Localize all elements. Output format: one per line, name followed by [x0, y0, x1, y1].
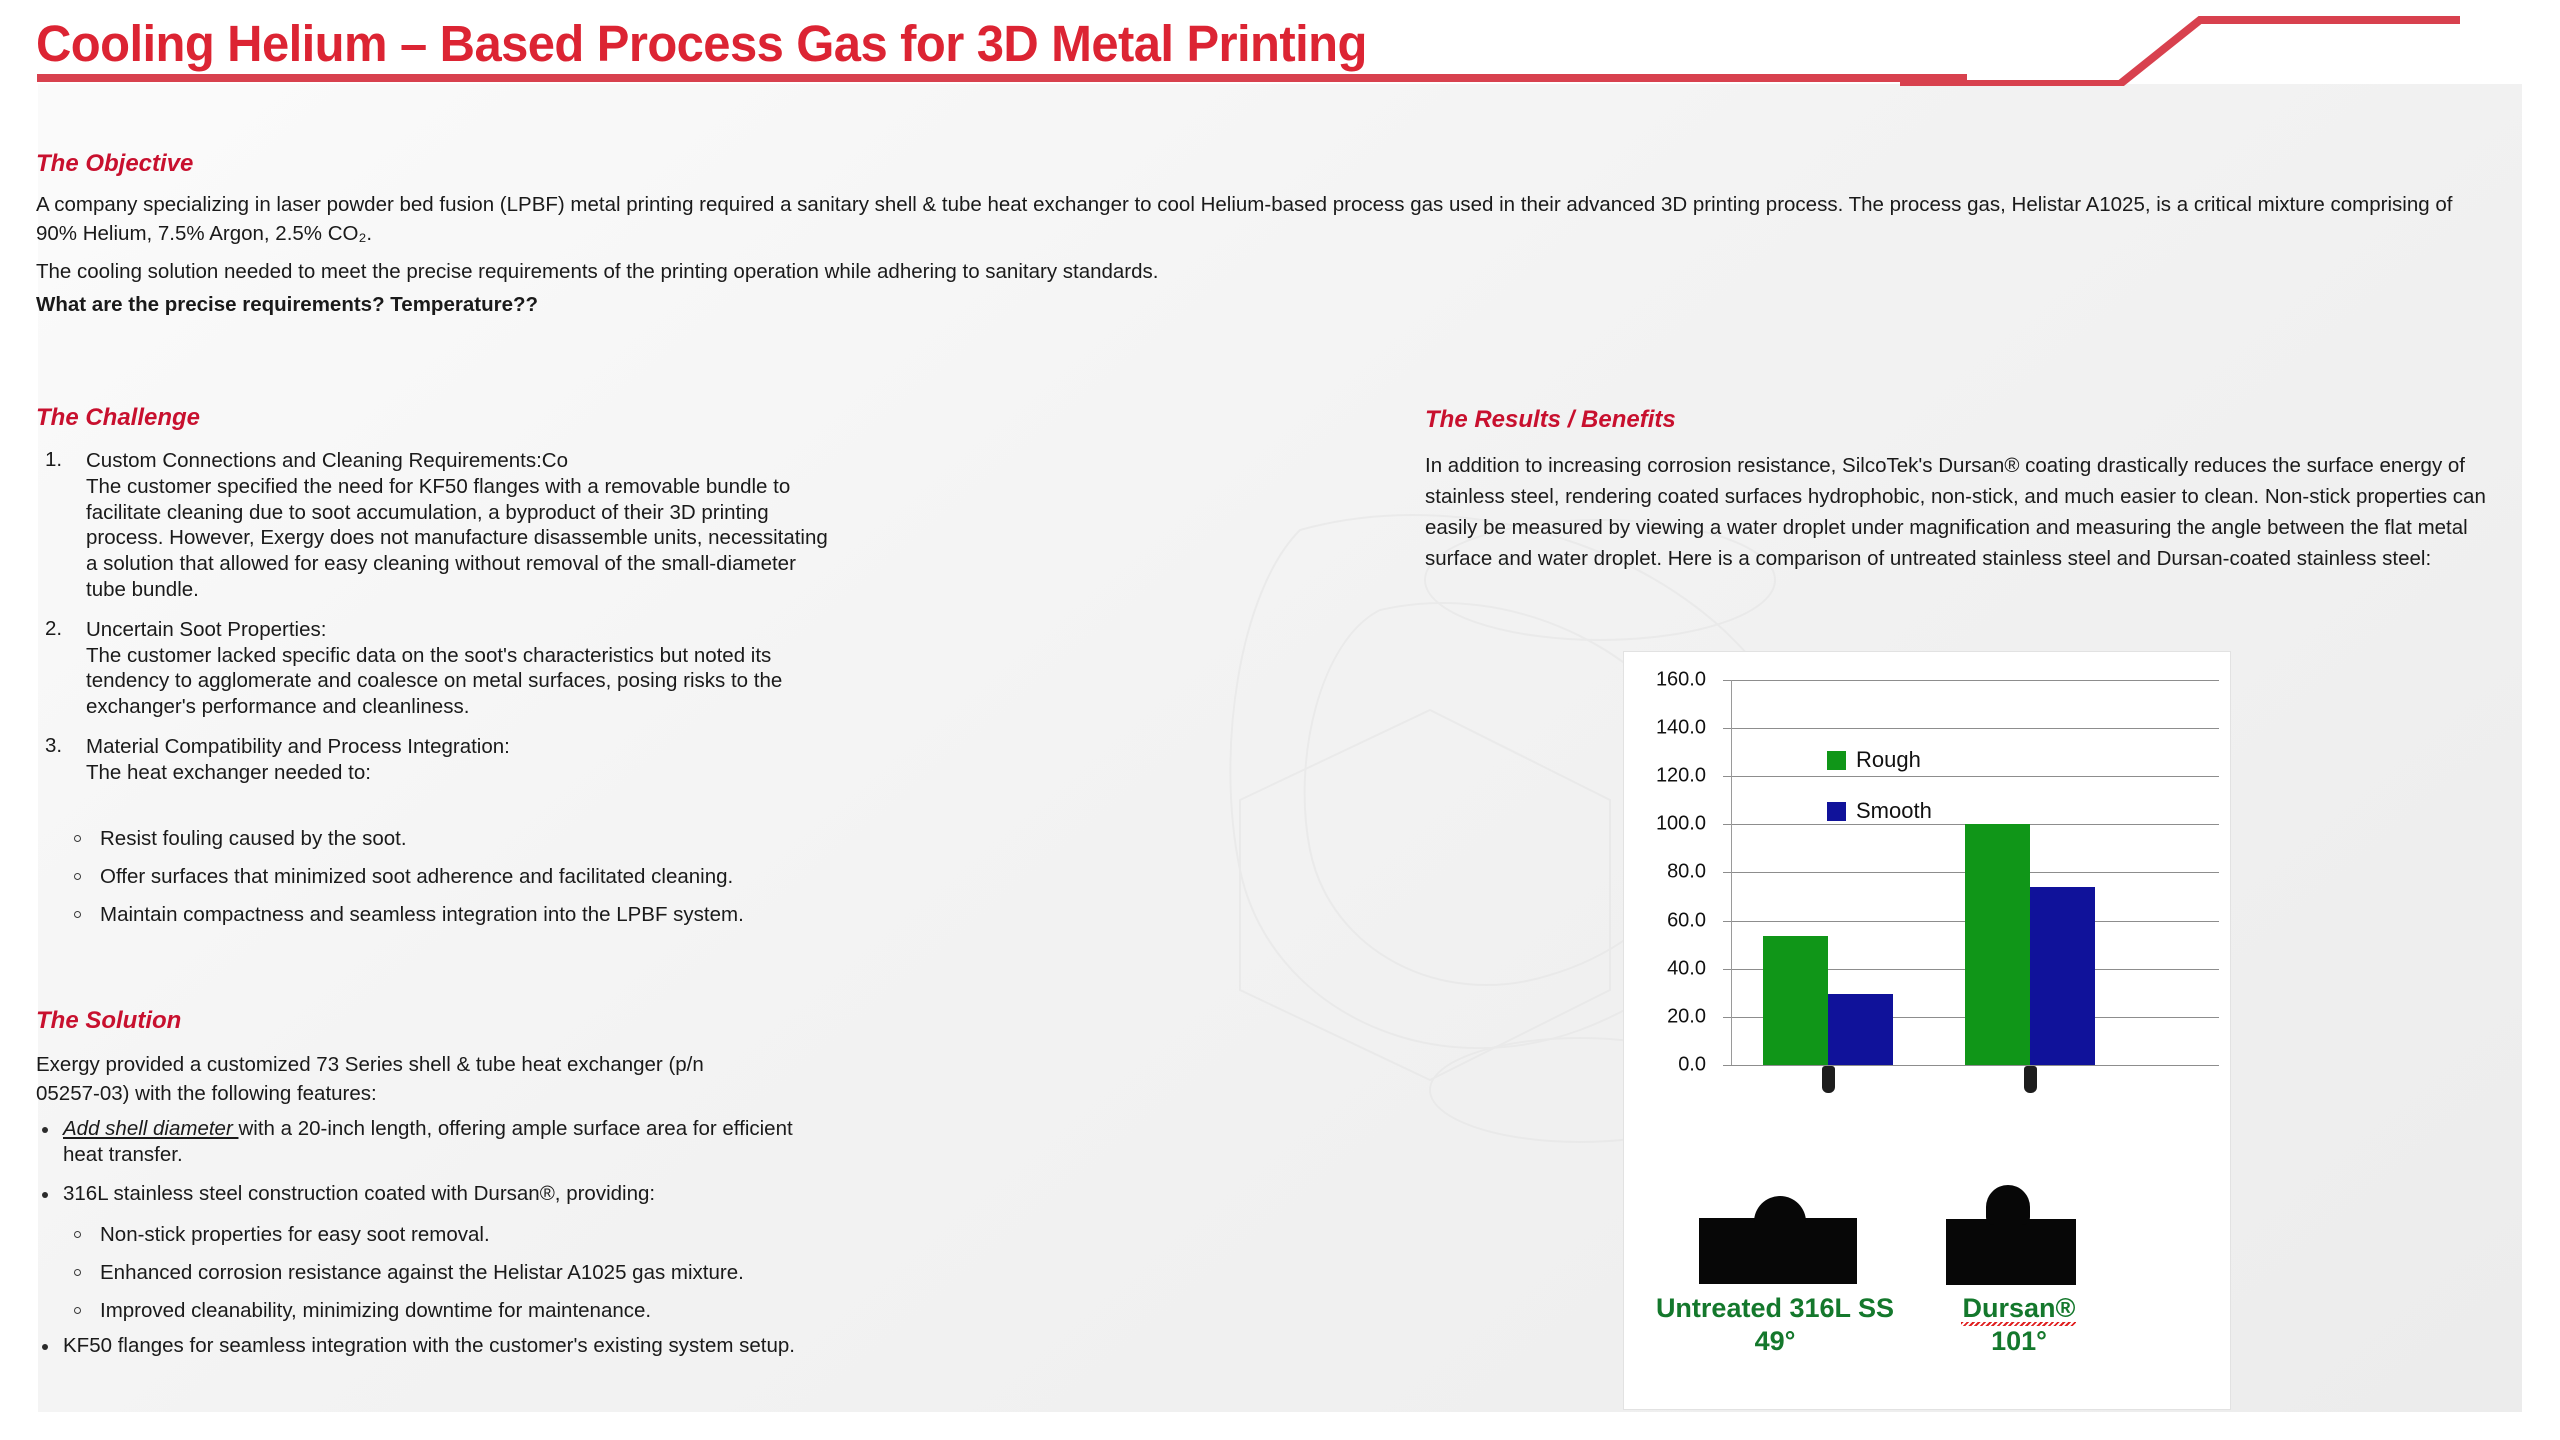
challenge-item-2-title: Uncertain Soot Properties:: [86, 617, 832, 643]
slide-root: Cooling Helium – Based Process Gas for 3…: [0, 0, 2560, 1440]
x-axis-knob-dursan: [2024, 1066, 2037, 1093]
challenge-item-3-title: Material Compatibility and Process Integ…: [86, 734, 832, 760]
challenge-sub-item-2: Offer surfaces that minimized soot adher…: [68, 864, 858, 890]
caption-dursan-angle: 101°: [1914, 1325, 2124, 1358]
solution-sub-item-2-label: Enhanced corrosion resistance against th…: [100, 1261, 744, 1284]
y-axis-label-160: 160.0: [1634, 669, 1706, 692]
solution-bullet-2: 316L stainless steel construction coated…: [36, 1181, 826, 1207]
bar-smooth-untreated: [1828, 994, 1893, 1065]
tick-20: [1723, 1017, 1731, 1018]
dursan-water-droplet: [1986, 1185, 2030, 1225]
caption-dursan: Dursan® 101°: [1914, 1292, 2124, 1358]
challenge-sub-item-2-label: Offer surfaces that minimized soot adher…: [100, 865, 733, 888]
legend-item-smooth: Smooth: [1827, 798, 1932, 824]
objective-paragraph-3: What are the precise requirements? Tempe…: [36, 290, 1936, 319]
legend-swatch-smooth-icon: [1827, 802, 1846, 821]
y-axis-label-60: 60.0: [1634, 910, 1706, 933]
challenge-sub-item-1: Resist fouling caused by the soot.: [68, 826, 858, 852]
legend-label-smooth: Smooth: [1856, 798, 1932, 824]
solution-intro: Exergy provided a customized 73 Series s…: [36, 1050, 756, 1108]
results-heading: The Results / Benefits: [1425, 406, 1676, 434]
circle-bullet-icon: [74, 1269, 81, 1276]
challenge-item-1-title: Custom Connections and Cleaning Requirem…: [86, 448, 832, 474]
challenge-item-3-body: The heat exchanger needed to:: [86, 760, 832, 786]
caption-untreated-angle: 49°: [1623, 1325, 1930, 1358]
droplet-image-dursan: [1946, 1189, 2076, 1285]
untreated-substrate: [1699, 1218, 1857, 1284]
circle-bullet-icon: [74, 1307, 81, 1314]
solution-bullet-2-label: 316L stainless steel construction coated…: [63, 1182, 655, 1205]
dot-bullet-icon: [42, 1127, 48, 1133]
y-axis-label-100: 100.0: [1634, 813, 1706, 836]
y-axis-label-20: 20.0: [1634, 1006, 1706, 1029]
solution-sub-item-3: Improved cleanability, minimizing downti…: [68, 1298, 858, 1324]
challenge-list: 1. Custom Connections and Cleaning Requi…: [42, 448, 832, 800]
caption-untreated: Untreated 316L SS 49°: [1623, 1292, 1930, 1358]
bar-rough-dursan: [1965, 824, 2030, 1065]
circle-bullet-icon: [74, 873, 81, 880]
challenge-sub-item-3-label: Maintain compactness and seamless integr…: [100, 903, 744, 926]
tick-80: [1723, 872, 1731, 873]
tick-40: [1723, 969, 1731, 970]
objective-paragraph-1: A company specializing in laser powder b…: [36, 190, 2496, 248]
solution-sub-list: Non-stick properties for easy soot remov…: [68, 1222, 858, 1335]
untreated-water-droplet: [1754, 1196, 1806, 1222]
axis-baseline: [1731, 1065, 2219, 1066]
challenge-item-1-body: The customer specified the need for KF50…: [86, 474, 832, 603]
solution-bullet-list-2: KF50 flanges for seamless integration wi…: [36, 1333, 936, 1372]
x-axis-knob-untreated: [1822, 1066, 1835, 1093]
challenge-item-3: 3. Material Compatibility and Process In…: [42, 734, 832, 786]
challenge-item-2: 2. Uncertain Soot Properties: The custom…: [42, 617, 832, 720]
spellcheck-squiggle-icon: [1961, 1322, 2076, 1326]
challenge-sub-item-3: Maintain compactness and seamless integr…: [68, 902, 858, 928]
bar-rough-untreated: [1763, 936, 1828, 1065]
dot-bullet-icon: [42, 1192, 48, 1198]
solution-bullet-1-emphasis: Add shell diameter: [63, 1117, 238, 1140]
challenge-item-1-number: 1.: [45, 448, 62, 472]
challenge-sub-list: Resist fouling caused by the soot. Offer…: [68, 826, 858, 939]
challenge-item-1: 1. Custom Connections and Cleaning Requi…: [42, 448, 832, 603]
y-axis-label-140: 140.0: [1634, 717, 1706, 740]
solution-sub-item-1-label: Non-stick properties for easy soot remov…: [100, 1223, 490, 1246]
page-title: Cooling Helium – Based Process Gas for 3…: [36, 14, 1367, 73]
solution-bullet-list: Add shell diameter with a 20-inch length…: [36, 1116, 826, 1220]
caption-untreated-label: Untreated 316L SS: [1623, 1292, 1930, 1325]
tick-120: [1723, 776, 1731, 777]
challenge-item-2-number: 2.: [45, 617, 62, 641]
solution-heading: The Solution: [36, 1007, 181, 1035]
challenge-heading: The Challenge: [36, 404, 200, 432]
dursan-substrate: [1946, 1219, 2076, 1285]
bar-smooth-dursan: [2030, 887, 2095, 1065]
results-paragraph: In addition to increasing corrosion resi…: [1425, 450, 2500, 574]
y-axis-label-0: 0.0: [1634, 1054, 1706, 1077]
solution-sub-item-3-label: Improved cleanability, minimizing downti…: [100, 1299, 651, 1322]
header-rule: [37, 74, 1967, 82]
y-axis-label-80: 80.0: [1634, 861, 1706, 884]
challenge-item-3-number: 3.: [45, 734, 62, 758]
tick-140: [1723, 728, 1731, 729]
caption-dursan-label: Dursan®: [1914, 1292, 2124, 1325]
legend-label-rough: Rough: [1856, 747, 1921, 773]
solution-bullet-1: Add shell diameter with a 20-inch length…: [36, 1116, 826, 1168]
solution-sub-item-1: Non-stick properties for easy soot remov…: [68, 1222, 858, 1248]
contact-angle-chart: 160.0 140.0 120.0 100.0 80.0 60.0 40.0 2…: [1623, 651, 2231, 1410]
circle-bullet-icon: [74, 835, 81, 842]
gridline-140: [1731, 728, 2219, 729]
objective-paragraph-2: The cooling solution needed to meet the …: [36, 257, 1936, 286]
tick-160: [1723, 680, 1731, 681]
tick-0: [1723, 1065, 1731, 1066]
tick-100: [1723, 824, 1731, 825]
solution-bullet-3-label: KF50 flanges for seamless integration wi…: [63, 1334, 795, 1357]
challenge-item-2-body: The customer lacked specific data on the…: [86, 643, 832, 720]
header-diagonal-accent: [1900, 14, 2560, 86]
droplet-image-untreated: [1699, 1200, 1857, 1284]
gridline-120: [1731, 776, 2219, 777]
challenge-sub-item-1-label: Resist fouling caused by the soot.: [100, 827, 407, 850]
solution-bullet-3: KF50 flanges for seamless integration wi…: [36, 1333, 936, 1359]
legend-item-rough: Rough: [1827, 747, 1921, 773]
dot-bullet-icon: [42, 1344, 48, 1350]
legend-swatch-rough-icon: [1827, 751, 1846, 770]
solution-sub-item-2: Enhanced corrosion resistance against th…: [68, 1260, 858, 1286]
gridline-160: [1731, 680, 2219, 681]
y-axis-label-120: 120.0: [1634, 765, 1706, 788]
y-axis-label-40: 40.0: [1634, 958, 1706, 981]
objective-heading: The Objective: [36, 150, 193, 178]
y-axis-line: [1731, 680, 1732, 1065]
tick-60: [1723, 921, 1731, 922]
chart-plot-area: 160.0 140.0 120.0 100.0 80.0 60.0 40.0 2…: [1624, 652, 2231, 1162]
circle-bullet-icon: [74, 911, 81, 918]
circle-bullet-icon: [74, 1231, 81, 1238]
